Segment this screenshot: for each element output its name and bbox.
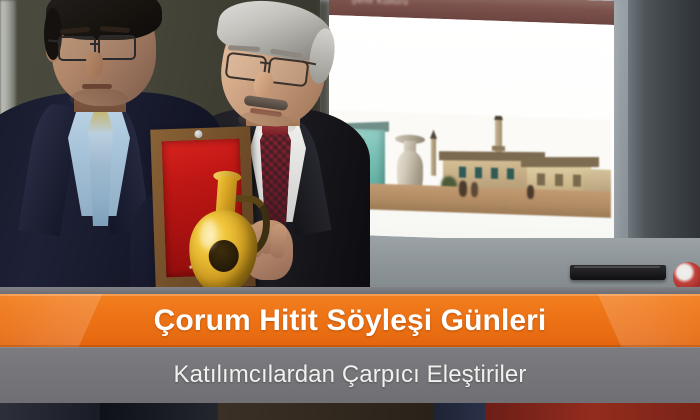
artwork-window [573,175,581,187]
laptop [570,265,666,280]
artwork-window [537,173,545,185]
artwork-figure [471,182,478,197]
artwork-figure [527,185,534,199]
bottom-strip-segment [433,403,485,420]
ceramic-pitcher [180,173,270,302]
title-banner: Çorum Hitit Söyleşi Günleri [0,294,700,347]
artwork-window [555,174,563,186]
artwork-minaret-small [431,136,436,176]
bottom-strip-segment [100,403,218,420]
finger [270,223,288,258]
artwork-window [475,167,482,178]
slide-body [329,15,614,244]
artwork-minaret-balcony [492,146,505,151]
person-left-chin [70,88,128,110]
banner-title: Çorum Hitit Söyleşi Günleri [0,294,700,347]
bottom-strip-segment [218,403,433,420]
artwork-window [459,167,466,178]
bottom-strip-segment [0,403,100,420]
subtitle-bar: Katılımcılardan Çarpıcı Eleştiriler [0,347,700,403]
artwork-window [507,168,514,179]
person-left-nose [86,52,103,78]
screenshot-root: Şehir Kültürü [0,0,700,420]
artwork-figure [459,181,467,197]
bottom-photo-strip [0,403,700,420]
award-plaque-pin [194,130,202,138]
person-left-glasses-bridge [90,43,100,45]
laptop-highlight [574,266,660,268]
projection-screen: Şehir Kültürü [329,0,614,244]
banner-top-grey-strip [0,287,700,294]
bottom-strip-segment [485,403,700,420]
person-left-glasses-right-lens [98,35,136,60]
slide-artwork [329,110,611,218]
slide-header-text: Şehir Kültürü [351,0,408,7]
artwork-building-right-roof [521,157,599,167]
banner-subtitle: Katılımcılardan Çarpıcı Eleştiriler [0,347,700,403]
artwork-window [491,168,498,179]
